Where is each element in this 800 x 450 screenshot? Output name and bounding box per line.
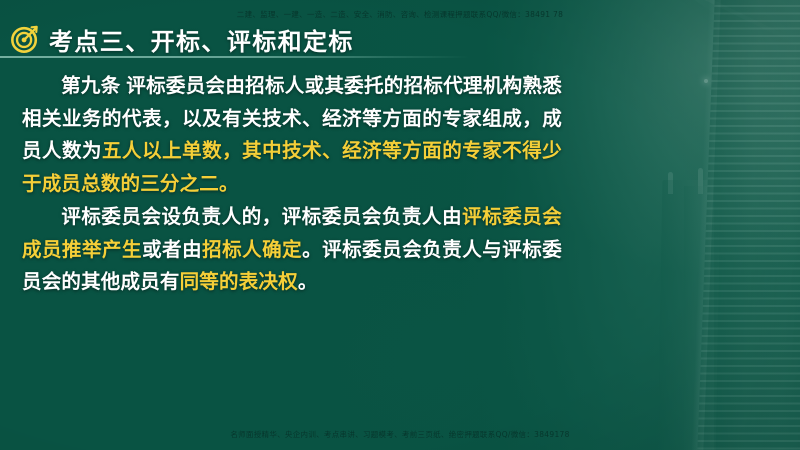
para2-segment-plain-2: 或者由 [142, 239, 202, 261]
slide-header: 考点三、开标、评标和定标 [0, 20, 800, 58]
target-bullseye-icon [10, 24, 40, 54]
header-divider-rule [0, 56, 470, 58]
paragraph-article-nine: 第九条 评标委员会由招标人或其委托的招标代理机构熟悉相关业务的代表，以及有关技术… [22, 70, 562, 200]
page-title: 考点三、开标、评标和定标 [49, 22, 354, 57]
para2-segment-plain-4: 。 [298, 271, 318, 293]
para2-segment-highlight-3: 同等的表决权 [180, 271, 298, 293]
watermark-bottom: 名师面授精华、央企内训、考点串讲、习题模考、考前三页纸、绝密押题联系QQ/微信：… [0, 429, 800, 440]
paragraph-committee-leader: 评标委员会设负责人的，评标委员会负责人由评标委员会成员推举产生或者由招标人确定。… [22, 201, 562, 299]
watermark-top: 二建、监理、一建、一造、二造、安全、消防、咨询、检测课程押题联系QQ/微信：38… [0, 9, 800, 20]
slide-body-text: 第九条 评标委员会由招标人或其委托的招标代理机构熟悉相关业务的代表，以及有关技术… [22, 70, 562, 299]
para2-segment-plain-1: 评标委员会设负责人的，评标委员会负责人由 [61, 206, 462, 228]
para2-segment-highlight-2: 招标人确定 [202, 239, 302, 261]
slide-canvas: 二建、监理、一建、一造、二造、安全、消防、咨询、检测课程押题联系QQ/微信：38… [0, 0, 800, 450]
para1-segment-highlight: 五人以上单数，其中技术、经济等方面的专家不得少于成员总数的三分之二。 [22, 140, 562, 195]
